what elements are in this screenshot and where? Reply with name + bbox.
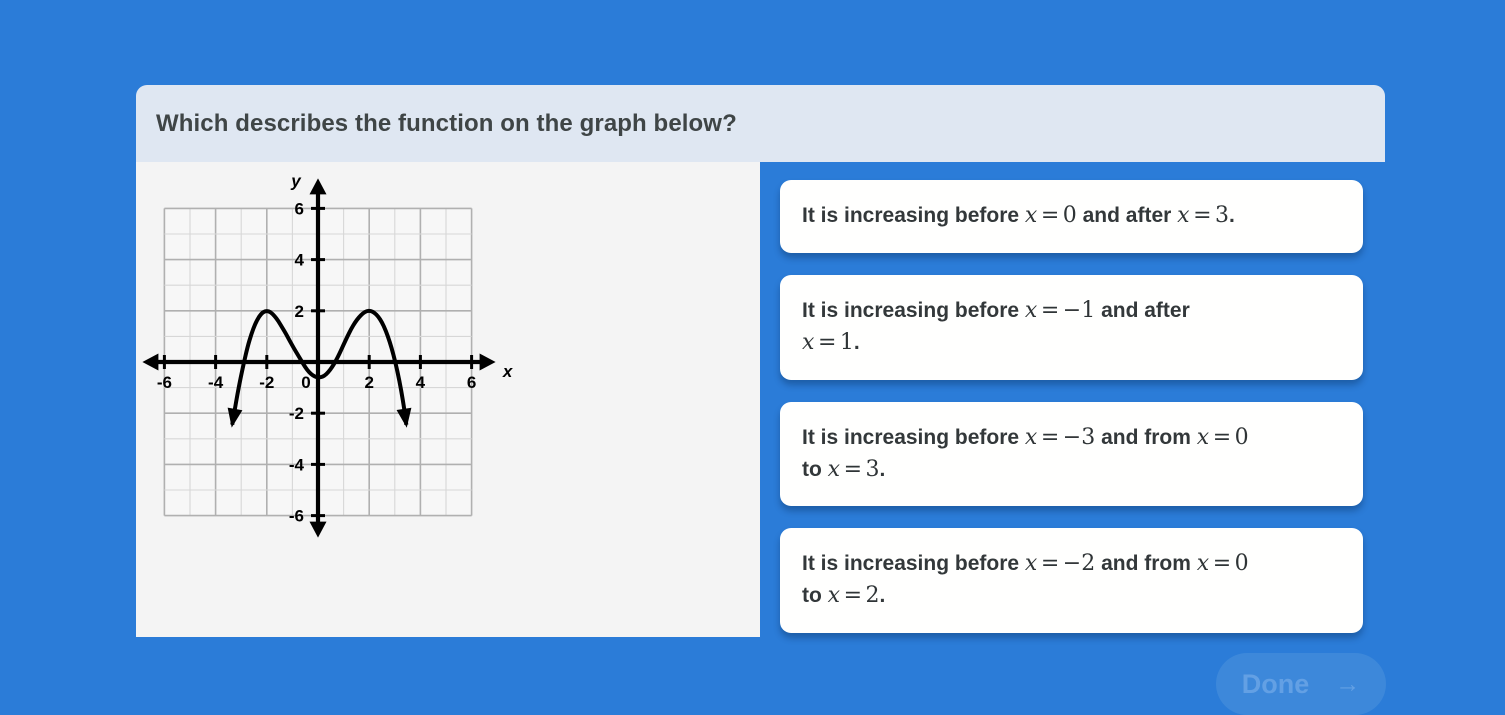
y-axis-tick-label: -4 [289, 455, 305, 474]
answer-text: It is increasing before [802, 426, 1025, 449]
origin-label: 0 [301, 373, 310, 392]
y-axis-tick-label: -6 [289, 507, 304, 526]
math-expression: x=0 [1197, 551, 1249, 576]
done-button[interactable]: Done → [1216, 653, 1386, 715]
answer-option-1[interactable]: It is increasing before x=0 and after x=… [780, 180, 1363, 253]
answer-punctuation: . [854, 331, 860, 354]
answer-text: and after [1095, 299, 1190, 322]
x-axis-tick-label: 6 [467, 373, 476, 392]
answer-text: to [802, 584, 828, 607]
y-axis-tick-label: -2 [289, 404, 304, 423]
function-graph: -6-4-2246642-2-4-60 xy [136, 162, 760, 637]
x-axis-label: x [502, 362, 514, 381]
x-axis-tick-label: -6 [157, 373, 172, 392]
math-expression: x=3 [1177, 203, 1229, 228]
question-body: -6-4-2246642-2-4-60 xy It is increasing … [136, 162, 1385, 637]
math-expression: x=−3 [1025, 425, 1095, 450]
answer-punctuation: . [1229, 204, 1235, 227]
answer-punctuation: . [880, 584, 886, 607]
answer-options-list: It is increasing before x=0 and after x=… [760, 162, 1385, 633]
math-expression: x=3 [828, 457, 880, 482]
answer-text: It is increasing before [802, 204, 1025, 227]
math-expression: x=−1 [1025, 298, 1095, 323]
math-expression: x=2 [828, 583, 880, 608]
x-axis-arrow-right [480, 354, 496, 371]
y-axis-tick-label: 6 [295, 199, 304, 218]
answer-text: It is increasing before [802, 299, 1025, 322]
x-axis-tick-label: -2 [259, 373, 274, 392]
answer-option-4[interactable]: It is increasing before x=−2 and from x=… [780, 528, 1363, 633]
x-axis-arrow-left [142, 354, 158, 371]
answer-text: and after [1077, 204, 1177, 227]
y-axis-tick-label: 2 [295, 302, 304, 321]
y-axis-arrow-down [310, 522, 327, 538]
answer-option-3[interactable]: It is increasing before x=−3 and from x=… [780, 402, 1363, 507]
y-axis-tick-label: 4 [295, 251, 305, 270]
y-axis-arrow-up [310, 178, 327, 194]
page-title: Which describes the function on the grap… [156, 110, 737, 138]
arrow-right-icon: → [1335, 672, 1360, 697]
question-header: Which describes the function on the grap… [136, 85, 1385, 162]
question-card: Which describes the function on the grap… [136, 85, 1385, 637]
math-expression: x=1 [802, 330, 854, 355]
graph-panel: -6-4-2246642-2-4-60 xy [136, 162, 760, 637]
answer-punctuation: . [880, 458, 886, 481]
math-expression: x=−2 [1025, 551, 1095, 576]
done-button-label: Done [1242, 669, 1310, 700]
answer-text: and from [1095, 426, 1197, 449]
x-axis-tick-label: -4 [208, 373, 224, 392]
x-axis-tick-label: 4 [416, 373, 426, 392]
answer-text: and from [1095, 552, 1197, 575]
answer-text: It is increasing before [802, 552, 1025, 575]
math-expression: x=0 [1025, 203, 1077, 228]
answer-option-2[interactable]: It is increasing before x=−1 and after x… [780, 275, 1363, 380]
y-axis-label: y [290, 171, 302, 190]
answer-text: to [802, 458, 828, 481]
x-axis-tick-label: 2 [364, 373, 373, 392]
math-expression: x=0 [1197, 425, 1249, 450]
